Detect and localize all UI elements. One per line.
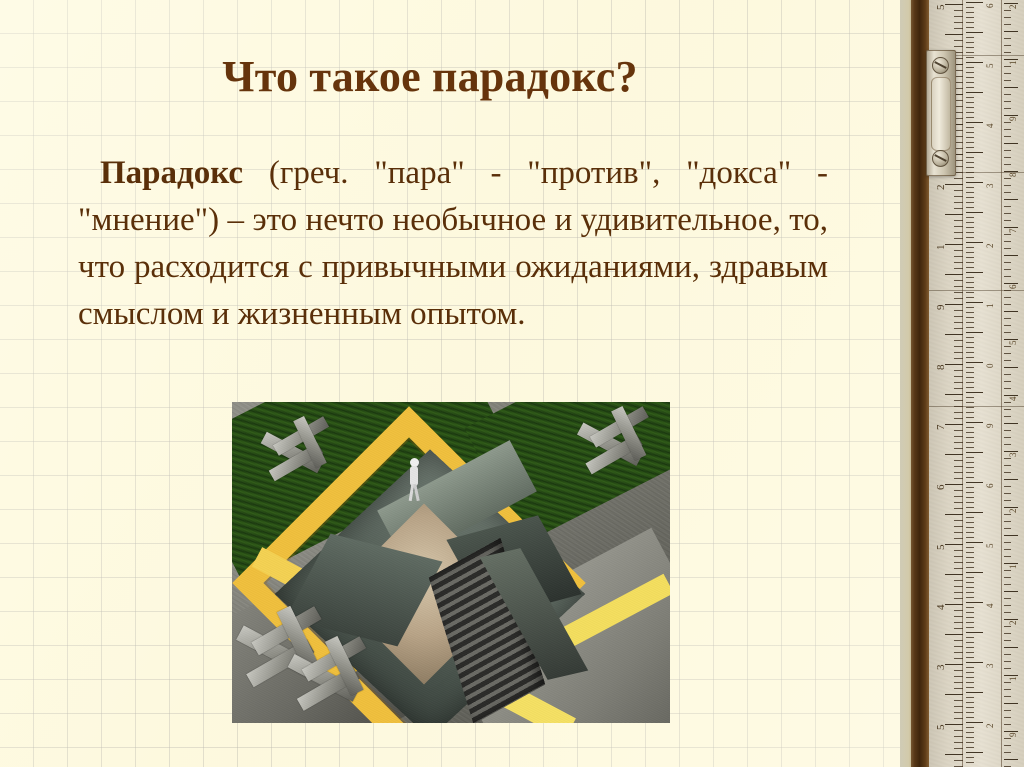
ruler-tick-number: 9 xyxy=(1008,733,1018,738)
ruler-tick-number: 4 xyxy=(1008,397,1018,402)
figure-leg-right xyxy=(413,484,419,501)
ruler-tick-number: 5 xyxy=(1008,341,1018,346)
page-title: Что такое парадокс? xyxy=(0,52,860,101)
ruler-tick-number: 6 xyxy=(1008,285,1018,290)
ruler-scale-secondary: 6543210965432 xyxy=(966,0,1001,767)
ruler-tick-number: 2 xyxy=(1008,5,1018,10)
ruler-tick-number: 2 xyxy=(935,185,947,191)
ruler-tick-number: 5 xyxy=(985,64,995,69)
ruler-tick-number: 2 xyxy=(985,724,995,729)
ruler-tick-number: 6 xyxy=(985,4,995,9)
ruler-tick-number: 2 xyxy=(985,244,995,249)
ruler-tick-number: 5 xyxy=(935,725,947,731)
impossible-cube-sculpture-bottom xyxy=(284,640,369,723)
ruler-tick-number: 5 xyxy=(935,5,947,11)
ruler-tick-number: 1 xyxy=(1008,61,1018,66)
ruler-tick-number: 4 xyxy=(985,124,995,129)
ruler-hinge-screw-bottom xyxy=(932,150,949,167)
ruler-tick-number: 8 xyxy=(935,365,947,371)
ruler-tick-number: 1 xyxy=(985,304,995,309)
ruler-tick-number: 3 xyxy=(935,665,947,671)
body-lead-word: Парадокс xyxy=(100,155,243,191)
ruler-tick-number: 7 xyxy=(1008,229,1018,234)
ruler-tick-number: 9 xyxy=(1008,117,1018,122)
ruler-tick-number: 2 xyxy=(1008,621,1018,626)
impossible-triangle-sculpture-top-left xyxy=(258,420,332,494)
slide-canvas: Что такое парадокс? Парадокс (греч. "пар… xyxy=(0,0,1024,767)
vintage-ruler: 5432198765435 6543210965432 219876543212… xyxy=(900,0,1024,767)
ruler-scale-tertiary: 21987654321219 xyxy=(1004,0,1024,767)
ruler-tick-number: 1 xyxy=(935,245,947,251)
ruler-tick-number: 3 xyxy=(985,664,995,669)
ruler-tick-number: 8 xyxy=(1008,173,1018,178)
impossible-triangle-sculpture-top-right xyxy=(574,410,652,488)
ruler-tick-number: 4 xyxy=(985,604,995,609)
ruler-tick-number: 5 xyxy=(935,545,947,551)
ruler-tick-number: 9 xyxy=(985,424,995,429)
ruler-tick-number: 1 xyxy=(1008,677,1018,682)
ruler-tick-number: 3 xyxy=(1008,453,1018,458)
ruler-tick-number: 1 xyxy=(1008,565,1018,570)
ruler-tick-number: 3 xyxy=(985,184,995,189)
ruler-tick-number: 5 xyxy=(985,544,995,549)
ruler-tick-number: 7 xyxy=(935,425,947,431)
ruler-tick-number: 6 xyxy=(985,484,995,489)
ruler-tick-number: 0 xyxy=(985,364,995,369)
ruler-scale-divider xyxy=(1001,0,1002,767)
human-figure xyxy=(408,458,420,502)
ruler-tick-number: 4 xyxy=(935,605,947,611)
illustration-image xyxy=(232,402,670,723)
ruler-tick-number: 6 xyxy=(935,485,947,491)
ruler-hinge xyxy=(926,50,956,176)
ruler-hinge-screw-top xyxy=(932,57,949,74)
body-paragraph: Парадокс (греч. "пара" - "против", "докс… xyxy=(78,150,828,338)
ruler-tick-number: 9 xyxy=(935,305,947,311)
ruler-hinge-plate xyxy=(931,77,951,151)
ruler-tick-number: 2 xyxy=(1008,509,1018,514)
